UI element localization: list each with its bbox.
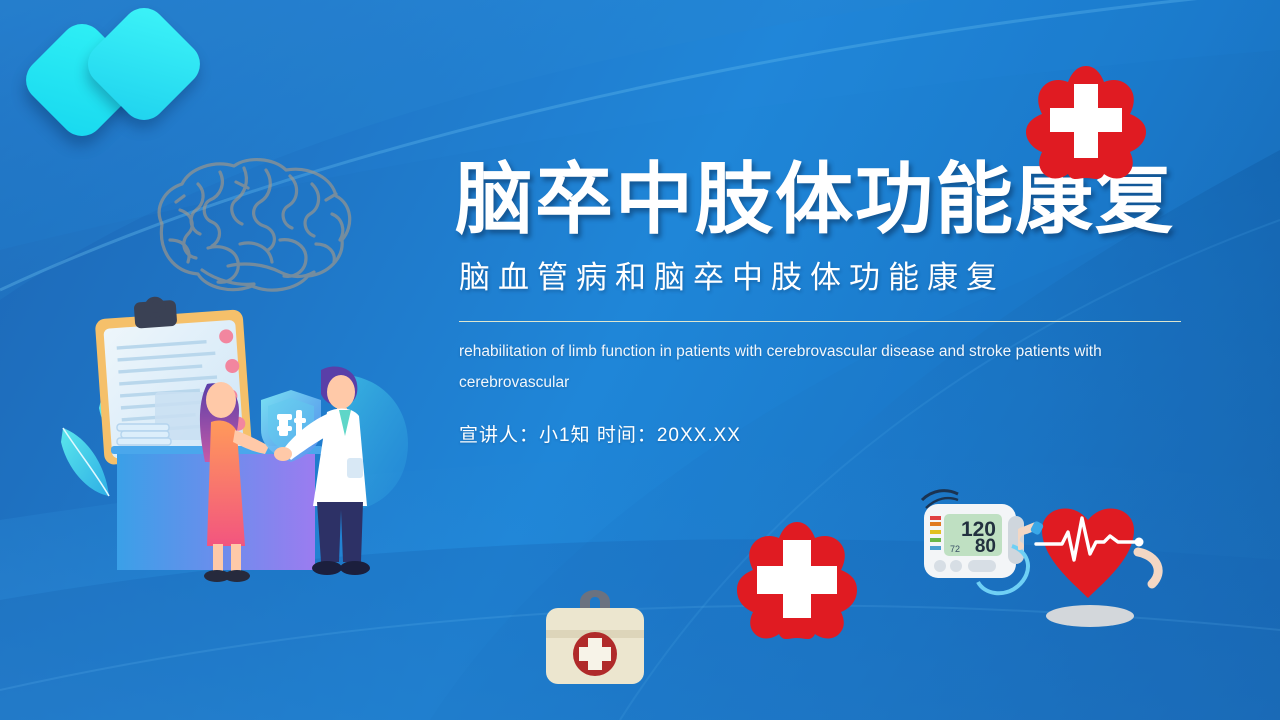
divider-line [459,321,1181,322]
heart-with-ecg-icon [1018,498,1172,630]
sub-title: 脑血管病和脑卒中肢体功能康复 [459,252,1215,297]
red-medical-cross-icon [1022,62,1150,180]
first-aid-kit-icon [536,586,654,690]
red-medical-cross-icon [733,518,861,640]
english-description: rehabilitation of limb function in patie… [459,336,1194,398]
brain-outline-icon [140,152,362,304]
doctor-and-patient-illustration [55,296,455,586]
blood-pressure-monitor-icon: 120 80 72 [908,486,1036,606]
bp-diastolic-value: 80 [975,536,996,557]
bp-pulse-value: 72 [950,544,960,554]
logo [22,12,222,152]
presentation-slide: 脑卒中肢体功能康复 脑血管病和脑卒中肢体功能康复 rehabilitation … [0,0,1280,720]
title-text-block: 脑卒中肢体功能康复 脑血管病和脑卒中肢体功能康复 rehabilitation … [455,160,1215,447]
presenter-info: 宣讲人：小1知 时间：20XX.XX [459,420,1215,447]
